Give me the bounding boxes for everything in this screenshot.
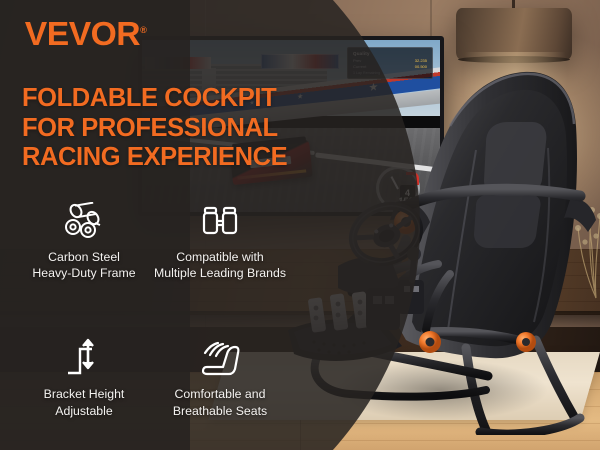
feature-label: Bracket Height Adjustable	[16, 386, 152, 418]
feature-item-carbon-steel: Carbon Steel Heavy-Duty Frame	[16, 196, 152, 281]
headline-line-3: RACING EXPERIENCE	[22, 143, 312, 173]
feature-label-line-1: Carbon Steel	[16, 249, 152, 265]
feature-label-line-1: Bracket Height	[16, 386, 152, 402]
feature-item-compatible-brands: Compatible with Multiple Leading Brands	[152, 196, 288, 281]
headline-line-2: FOR PROFESSIONAL	[22, 114, 312, 144]
feature-label: Carbon Steel Heavy-Duty Frame	[16, 249, 152, 281]
feature-grid: Carbon Steel Heavy-Duty Frame Compatible…	[16, 196, 288, 419]
trademark-symbol: ®	[140, 25, 146, 35]
advertisement-banner: ★ ★ ★ Quality Prev 32.235	[0, 0, 600, 450]
feature-label-line-1: Compatible with	[152, 249, 288, 265]
feature-label-line-2: Heavy-Duty Frame	[16, 265, 152, 281]
vevor-logo: VEVOR®	[25, 17, 147, 50]
feature-item-breathable-seats: Comfortable and Breathable Seats	[152, 333, 288, 418]
feature-label-line-1: Comfortable and	[152, 386, 288, 402]
logo-wordmark: VEVOR	[25, 15, 140, 52]
feature-label-line-2: Breathable Seats	[152, 403, 288, 419]
feature-label: Comfortable and Breathable Seats	[152, 386, 288, 418]
headline: FOLDABLE COCKPIT FOR PROFESSIONAL RACING…	[22, 84, 312, 173]
feature-label-line-2: Multiple Leading Brands	[152, 265, 288, 281]
feature-label-line-2: Adjustable	[16, 403, 152, 419]
feature-label: Compatible with Multiple Leading Brands	[152, 249, 288, 281]
breathable-seat-icon	[152, 333, 288, 379]
bracket-height-arrow-icon	[16, 333, 152, 379]
headline-line-1: FOLDABLE COCKPIT	[22, 84, 312, 114]
binoculars-icon	[152, 196, 288, 242]
steel-tubes-icon	[16, 196, 152, 242]
feature-item-bracket-height: Bracket Height Adjustable	[16, 333, 152, 418]
